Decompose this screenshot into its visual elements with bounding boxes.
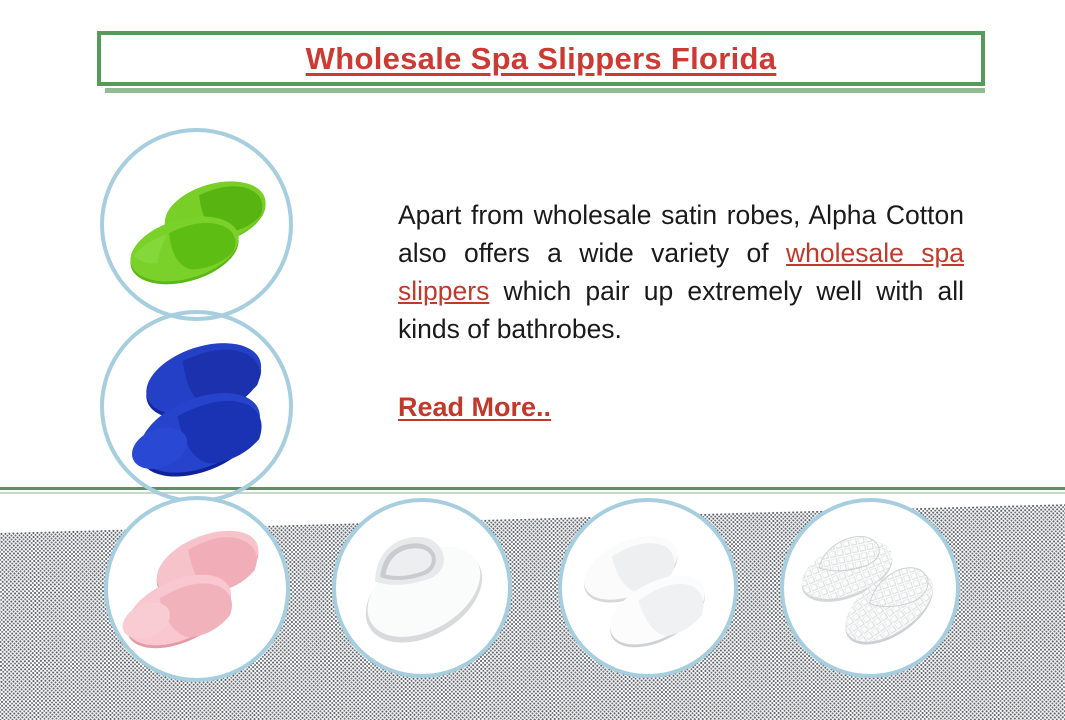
page-title: Wholesale Spa Slippers Florida [306, 41, 777, 77]
slide-canvas: Wholesale Spa Slippers Florida Apart fro… [0, 0, 1065, 720]
gallery-item-white-waffle-slippers[interactable] [780, 498, 960, 678]
title-box-shadow [105, 88, 985, 93]
white-closed-toe-slippers-image [562, 502, 734, 674]
gallery-item-white-open-toe-slipper[interactable] [332, 498, 512, 678]
white-open-toe-slipper-image [336, 502, 508, 674]
gallery-item-green-slippers[interactable] [100, 128, 293, 321]
read-more-link[interactable]: Read More.. [398, 392, 551, 423]
gallery-item-white-closed-toe-slippers[interactable] [558, 498, 738, 678]
gallery-item-pink-slippers[interactable] [104, 496, 290, 682]
gallery-item-blue-slippers[interactable] [100, 310, 293, 503]
body-paragraph: Apart from wholesale satin robes, Alpha … [398, 196, 964, 348]
green-slippers-image [104, 132, 289, 317]
title-box: Wholesale Spa Slippers Florida [97, 31, 985, 86]
blue-slippers-image [104, 314, 289, 499]
pink-slippers-image [108, 500, 286, 678]
white-waffle-slippers-image [784, 502, 956, 674]
